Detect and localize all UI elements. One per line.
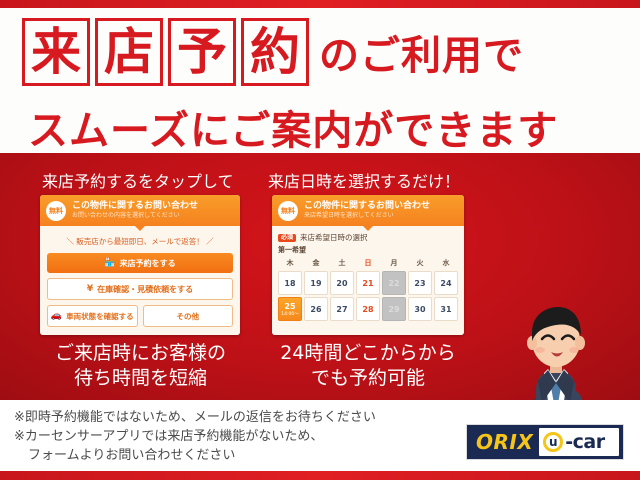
stock-quote-label: 在庫確認・見積依頼をする [97,284,193,295]
top-red-rule [0,0,640,8]
feature-section: 来店予約するをタップして 来店日時を選択するだけ！ 無料 この物件に関するお問い… [0,153,640,400]
other-button[interactable]: その他 [143,305,234,327]
left-caption: ご来店時にお客様の 待ち時間を短縮 [18,341,263,391]
calendar-week-1: 18 19 20 21 22 23 24 [278,271,458,295]
secondary-button-row: 🚗 車両状態を確認する その他 [47,305,233,327]
disclaimer-line-3: フォームよりお問い合わせください [14,446,376,465]
header-notch-icon [363,226,373,231]
advertisement-banner: 来 店 予 約 のご利用で スムーズにご案内ができます 来店予約するをタップして… [0,0,640,480]
car-icon: 🚗 [51,312,62,321]
visit-reservation-button[interactable]: 🏪 来店予約をする [47,253,233,273]
promo-text: ＼ 販売店から最短即日、メールで返答！ ／ [47,236,233,247]
date-number: 20 [336,279,347,288]
date-number: 21 [362,279,373,288]
calendar-body: 必須 来店希望日時の選択 第一希望 木 金 土 日 月 火 水 18 19 20 [272,226,464,335]
weekday-sun: 日 [356,258,380,269]
visit-reservation-label: 来店予約をする [120,258,176,269]
form-header-subtitle: お問い合わせの内容を選択してください [72,212,198,220]
calendar-header-subtitle: 来店希望日時を選択してください [304,212,430,220]
inquiry-form-mock: 無料 この物件に関するお問い合わせ お問い合わせの内容を選択してください ＼ 販… [40,195,240,335]
date-cell[interactable]: 27 [330,297,354,321]
weekday-mon: 月 [382,258,406,269]
date-number: 30 [414,305,425,314]
weekday-fri: 金 [304,258,328,269]
right-panel-heading: 来店日時を選択するだけ！ [268,168,460,192]
other-label: その他 [177,311,200,322]
date-cell[interactable]: 23 [408,271,432,295]
left-caption-line-2: 待ち時間を短縮 [18,366,263,391]
stock-quote-button[interactable]: ¥ 在庫確認・見積依頼をする [47,278,233,300]
disclaimer-line-1: ※即時予約機能ではないため、メールの返信をお待ちください [14,408,376,427]
store-icon: 🏪 [104,259,115,268]
calendar-header-title: この物件に関するお問い合わせ [304,201,430,212]
headline-line-2: スムーズにご案内ができます [28,98,558,156]
right-caption-line-1: 24時間どこからから [268,341,468,366]
header: 来 店 予 約 のご利用で スムーズにご案内ができます [0,8,640,153]
date-cell[interactable]: 20 [330,271,354,295]
weekday-sat: 土 [330,258,354,269]
date-number: 31 [440,305,451,314]
kanji-box-4: 約 [241,18,309,86]
free-badge: 無料 [46,201,66,221]
weekday-tue: 火 [408,258,432,269]
date-cell[interactable]: 26 [304,297,328,321]
headline-line-1: 来 店 予 約 のご利用で [22,18,524,86]
left-caption-line-1: ご来店時にお客様の [18,341,263,366]
date-cell-disabled: 22 [382,271,406,295]
calendar-header: 無料 この物件に関するお問い合わせ 来店希望日時を選択してください [272,195,464,226]
kanji-box-2: 店 [95,18,163,86]
date-cell[interactable]: 24 [434,271,458,295]
vehicle-condition-button[interactable]: 🚗 車両状態を確認する [47,305,138,327]
weekday-thu: 木 [278,258,302,269]
calendar-field-label: 必須 来店希望日時の選択 [278,232,458,243]
date-cell[interactable]: 19 [304,271,328,295]
bottom-red-rule [0,471,640,480]
date-cell[interactable]: 30 [408,297,432,321]
date-cell[interactable]: 18 [278,271,302,295]
right-caption-line-2: でも予約可能 [268,366,468,391]
ucar-lockup: u -car [539,428,619,456]
orix-ucar-logo: ORIX u -car [466,424,624,460]
date-cell[interactable]: 28 [356,297,380,321]
form-header-title: この物件に関するお問い合わせ [72,201,198,212]
date-cell-selected[interactable]: 25 14:00〜 [278,297,302,321]
date-number: 22 [388,279,399,288]
calendar-weekday-row: 木 金 土 日 月 火 水 [278,258,458,269]
weekday-wed: 水 [434,258,458,269]
required-chip: 必須 [278,234,296,242]
free-badge: 無料 [278,201,298,221]
left-panel-heading: 来店予約するをタップして [42,168,234,192]
date-cell[interactable]: 21 [356,271,380,295]
date-cell-disabled: 29 [382,297,406,321]
date-number: 23 [414,279,425,288]
field-label-text: 来店希望日時の選択 [300,232,368,243]
headline-tail: のご利用で [319,23,524,81]
date-number: 27 [336,305,347,314]
date-cell[interactable]: 31 [434,297,458,321]
date-time-sub: 14:00〜 [281,312,298,317]
calendar-mock: 無料 この物件に関するお問い合わせ 来店希望日時を選択してください 必須 来店希… [272,195,464,335]
date-number: 25 [284,302,295,311]
yen-icon: ¥ [87,285,93,294]
disclaimer-text: ※即時予約機能ではないため、メールの返信をお待ちください ※カーセンサーアプリで… [14,408,376,465]
date-number: 28 [362,305,373,314]
first-choice-label: 第一希望 [278,245,458,255]
date-number: 24 [440,279,451,288]
calendar-week-2: 25 14:00〜 26 27 28 29 30 31 [278,297,458,321]
date-number: 26 [310,305,321,314]
kanji-box-1: 来 [22,18,90,86]
date-number: 19 [310,279,321,288]
disclaimer-line-2: ※カーセンサーアプリでは来店予約機能がないため、 [14,427,376,446]
u-circle-icon: u [543,432,563,452]
kanji-box-3: 予 [168,18,236,86]
form-header: 無料 この物件に関するお問い合わせ お問い合わせの内容を選択してください [40,195,240,226]
vehicle-condition-label: 車両状態を確認する [66,311,134,322]
ucar-suffix: -car [565,431,604,453]
form-body: ＼ 販売店から最短即日、メールで返答！ ／ 🏪 来店予約をする ¥ 在庫確認・見… [40,226,240,335]
header-notch-icon [135,226,145,231]
date-number: 29 [388,305,399,314]
right-caption: 24時間どこからから でも予約可能 [268,341,468,391]
date-number: 18 [284,279,295,288]
orix-wordmark: ORIX [467,430,539,454]
